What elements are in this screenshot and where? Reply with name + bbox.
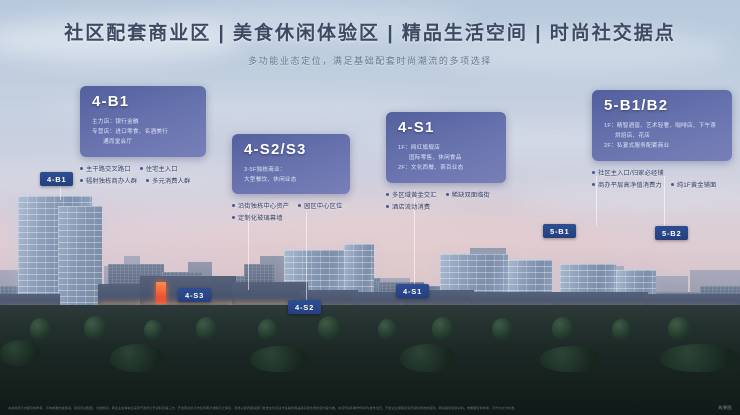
card-tag: 纯1F黄金铺面: [671, 180, 717, 189]
card-code: 4-B1: [92, 94, 196, 111]
card-header: 4-B1 主力店：银行金融 专营店：进口零食、名酒美行 通而堂会厅: [80, 86, 206, 157]
card-tag: 多元消费人群: [146, 176, 190, 185]
card-tag: 辐射独栋商办人群: [80, 176, 137, 185]
page-title: 社区配套商业区 | 美食休闲体验区 | 精品生活空间 | 时尚社交据点: [0, 18, 740, 45]
card-tag-label: 园区中心区位: [304, 201, 342, 210]
bullet-dot-icon: [386, 193, 389, 196]
card-tag-label: 社区主入口/归家必经铺: [598, 168, 664, 177]
slide-canvas: 社区配套商业区 | 美食休闲体验区 | 精品生活空间 | 时尚社交据点 多功能业…: [0, 0, 740, 415]
card-header: 4-S2/S3 3-5F独栋商业： 大型餐饮、休闲业态: [232, 134, 350, 194]
bullet-dot-icon: [80, 179, 83, 182]
card-tag: 主干路交叉路口: [80, 164, 131, 173]
connector-line-4s2: [306, 212, 307, 304]
card-header: 4-S1 1F：网红旗舰店 国际零售、休闲食品 2F：文化西餐、茶百业态: [386, 112, 506, 183]
card-tag: 住宅主入口: [140, 164, 178, 173]
bullet-dot-icon: [446, 193, 449, 196]
card-tag-label: 沿街独栋中心资产: [238, 201, 289, 210]
callout-card-4s1[interactable]: 4-S1 1F：网红旗舰店 国际零售、休闲食品 2F：文化西餐、茶百业态 多区域…: [386, 112, 506, 211]
building-tag-4s1[interactable]: 4-S1: [396, 284, 429, 298]
building-tag-5b1[interactable]: 5-B1: [543, 224, 576, 238]
card-code: 4-S1: [398, 120, 496, 137]
building-tag-4s2[interactable]: 4-S2: [288, 300, 321, 314]
footer-bar: 本资料所示内容仅供参考，不构成要约或承诺。项目周边配套、交通规划、商业业态等信息…: [0, 405, 740, 411]
page-subtitle: 多功能业态定位，满足基础配套时尚潮流的多项选择: [0, 54, 740, 67]
card-tag: 多区域黄金交汇: [386, 190, 437, 199]
bullet-dot-icon: [592, 183, 595, 186]
card-tag: 沿街独栋中心资产: [232, 201, 289, 210]
card-detail-line: 国际零售、休闲食品: [398, 153, 496, 163]
bullet-dot-icon: [232, 204, 235, 207]
card-code: 4-S2/S3: [244, 142, 340, 159]
card-detail-line: 1F：精智酒窖、艺术轻奢、咖啡店、下午茶: [604, 121, 722, 131]
card-tag-label: 辐射独栋商办人群: [86, 176, 137, 185]
card-detail-line: 主力店：银行金融: [92, 117, 196, 127]
bullet-dot-icon: [671, 183, 674, 186]
bullet-dot-icon: [232, 216, 235, 219]
bullet-dot-icon: [592, 171, 595, 174]
callout-card-4s2s3[interactable]: 4-S2/S3 3-5F独栋商业： 大型餐饮、休闲业态 沿街独栋中心资产 园区中…: [232, 134, 350, 222]
card-tag-list: 社区主入口/归家必经铺 商办平层高净值消费力 纯1F黄金铺面: [592, 168, 732, 189]
card-tag-label: 商办平层高净值消费力: [598, 180, 662, 189]
building-tag-4s3[interactable]: 4-S3: [178, 288, 211, 302]
building-tag-5b2[interactable]: 5-B2: [655, 226, 688, 240]
card-tag-label: 多元消费人群: [152, 176, 190, 185]
card-code: 5-B1/B2: [604, 98, 722, 115]
card-tag: 稀缺双面临街: [446, 190, 490, 199]
connector-line-4s3: [248, 212, 249, 290]
bullet-dot-icon: [80, 167, 83, 170]
card-detail-line: 烘焙店、花店: [604, 131, 722, 141]
card-detail-line: 2F：私宴式服务配套商业: [604, 141, 722, 151]
bullet-dot-icon: [298, 204, 301, 207]
building-tag-4b1[interactable]: 4-B1: [40, 172, 73, 186]
callout-card-4b1[interactable]: 4-B1 主力店：银行金融 专营店：进口零食、名酒美行 通而堂会厅 主干路交叉路…: [80, 86, 206, 185]
card-detail-line: 通而堂会厅: [92, 137, 196, 147]
card-tag-label: 主干路交叉路口: [86, 164, 131, 173]
card-tag: 商办平层高净值消费力: [592, 180, 662, 189]
card-tag-label: 住宅主入口: [146, 164, 178, 173]
card-tag-label: 纯1F黄金铺面: [677, 180, 717, 189]
card-detail-line: 专营店：进口零食、名酒美行: [92, 127, 196, 137]
card-tag: 定制化玻璃幕墙: [232, 213, 283, 222]
card-tag-label: 定制化玻璃幕墙: [238, 213, 283, 222]
card-detail-line: 大型餐饮、休闲业态: [244, 175, 340, 185]
card-tag-list: 主干路交叉路口 住宅主入口 辐射独栋商办人群 多元消费人群: [80, 164, 206, 185]
bullet-dot-icon: [386, 205, 389, 208]
card-tag-label: 酒店流动消费: [392, 202, 430, 211]
header-block: 社区配套商业区 | 美食休闲体验区 | 精品生活空间 | 时尚社交据点 多功能业…: [0, 18, 740, 67]
card-header: 5-B1/B2 1F：精智酒窖、艺术轻奢、咖啡店、下午茶 烘焙店、花店 2F：私…: [592, 90, 732, 161]
street-trees: [0, 300, 740, 350]
card-tag-label: 多区域黄金交汇: [392, 190, 437, 199]
card-detail-line: 2F：文化西餐、茶百业态: [398, 163, 496, 173]
card-tag: 园区中心区位: [298, 201, 342, 210]
bullet-dot-icon: [140, 167, 143, 170]
card-detail-line: 3-5F独栋商业：: [244, 165, 340, 175]
card-tag-list: 沿街独栋中心资产 园区中心区位 定制化玻璃幕墙: [232, 201, 350, 222]
card-tag: 社区主入口/归家必经铺: [592, 168, 664, 177]
card-tag-list: 多区域黄金交汇 稀缺双面临街 酒店流动消费: [386, 190, 506, 211]
callout-card-5b1b2[interactable]: 5-B1/B2 1F：精智酒窖、艺术轻奢、咖啡店、下午茶 烘焙店、花店 2F：私…: [592, 90, 732, 189]
card-tag: 酒店流动消费: [386, 202, 430, 211]
legal-disclaimer: 本资料所示内容仅供参考，不构成要约或承诺。项目周边配套、交通规划、商业业态等信息…: [8, 406, 517, 410]
card-detail-line: 1F：网红旗舰店: [398, 143, 496, 153]
footer-note: 效果图: [718, 405, 732, 411]
card-tag-label: 稀缺双面临街: [452, 190, 490, 199]
bullet-dot-icon: [146, 179, 149, 182]
